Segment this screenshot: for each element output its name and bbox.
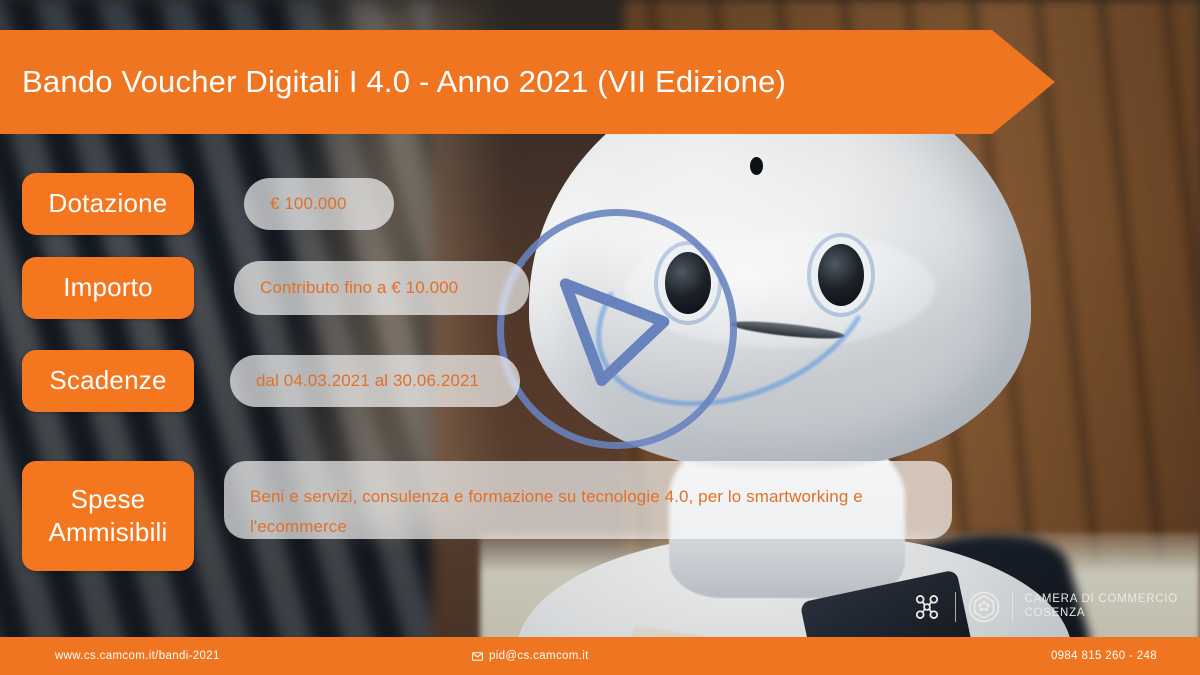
- label-chip-dotazione: Dotazione: [22, 173, 194, 235]
- label-chip-spese-ammisibili: Spese Ammisibili: [22, 461, 194, 571]
- footer-bar: www.cs.camcom.it/bandi-2021 pid@cs.camco…: [0, 637, 1200, 675]
- row-importo: Importo Contributo fino a € 10.000: [22, 257, 529, 319]
- value-pill-spese-ammisibili: Beni e servizi, consulenza e formazione …: [224, 461, 952, 539]
- pid-knot-icon: [910, 590, 944, 624]
- value-pill-scadenze: dal 04.03.2021 al 30.06.2021: [230, 355, 520, 407]
- logo-wordmark-line2: COSENZA: [1024, 607, 1178, 621]
- play-button[interactable]: [497, 209, 737, 449]
- footer-email-group[interactable]: pid@cs.camcom.it: [472, 650, 589, 662]
- row-spese: Spese Ammisibili Beni e servizi, consule…: [22, 461, 952, 571]
- play-triangle-icon: [548, 263, 680, 395]
- value-pill-dotazione: € 100.000: [244, 178, 394, 230]
- envelope-icon: [472, 652, 483, 661]
- footer-phone: 0984 815 260 - 248: [1051, 650, 1157, 662]
- logo-wordmark: CAMERA DI COMMERCIO COSENZA: [1024, 593, 1178, 620]
- page-title: Bando Voucher Digitali I 4.0 - Anno 2021…: [0, 64, 786, 100]
- logo-wordmark-line1: CAMERA DI COMMERCIO: [1024, 593, 1178, 607]
- header-banner: Bando Voucher Digitali I 4.0 - Anno 2021…: [0, 30, 1055, 134]
- row-dotazione: Dotazione € 100.000: [22, 173, 394, 235]
- footer-email-text: pid@cs.camcom.it: [489, 650, 589, 662]
- value-pill-spese-text: Beni e servizi, consulenza e formazione …: [250, 475, 926, 542]
- row-scadenze: Scadenze dal 04.03.2021 al 30.06.2021: [22, 350, 520, 412]
- footer-website[interactable]: www.cs.camcom.it/bandi-2021: [55, 650, 220, 662]
- label-chip-spese-line1: Spese: [49, 483, 168, 516]
- label-chip-importo: Importo: [22, 257, 194, 319]
- label-chip-scadenze: Scadenze: [22, 350, 194, 412]
- logo-divider-1: [955, 592, 956, 622]
- logo-divider-2: [1012, 592, 1013, 622]
- label-chip-spese-line2: Ammisibili: [49, 516, 168, 549]
- slide-root: Bando Voucher Digitali I 4.0 - Anno 2021…: [0, 0, 1200, 675]
- value-pill-importo: Contributo fino a € 10.000: [234, 261, 529, 315]
- hexagon-emblem-icon: [967, 590, 1001, 624]
- camera-di-commercio-logo: CAMERA DI COMMERCIO COSENZA: [910, 590, 1178, 624]
